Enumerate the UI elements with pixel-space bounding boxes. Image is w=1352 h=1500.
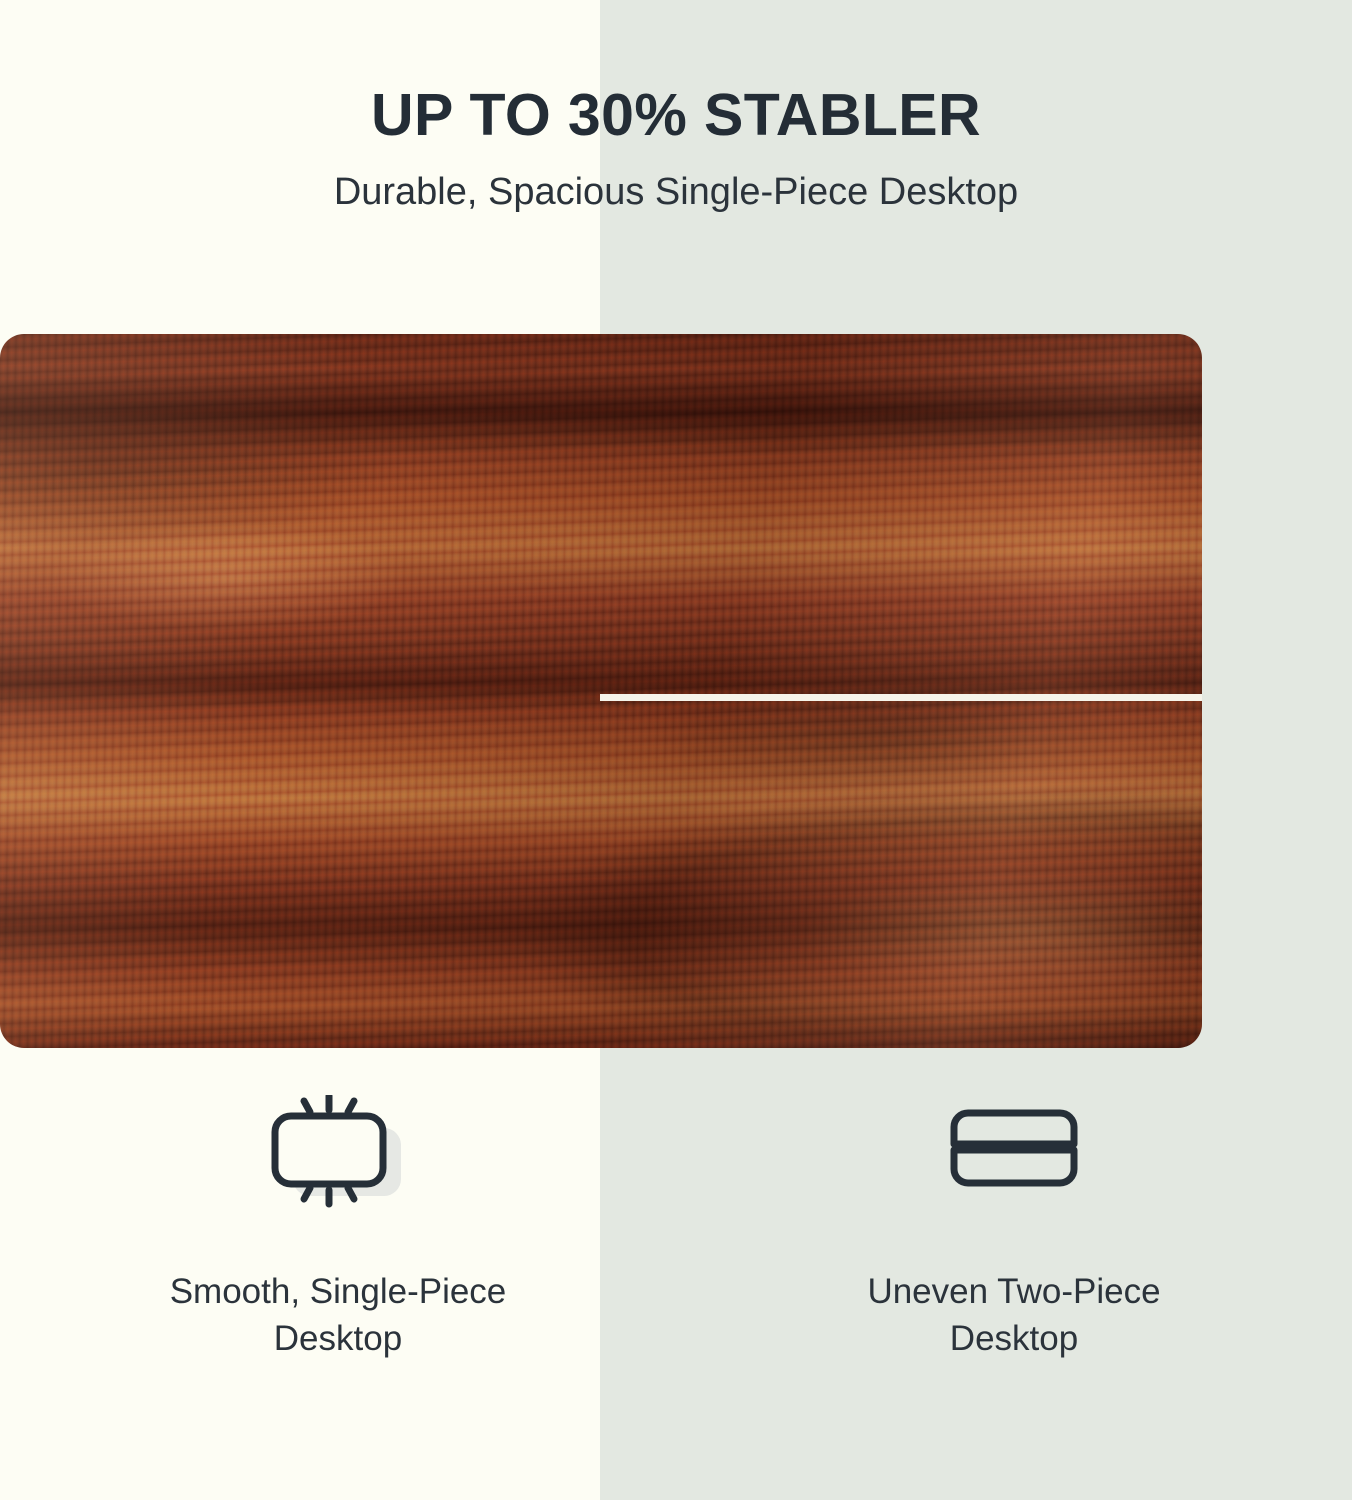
two-piece-desktop-split-icon xyxy=(934,1095,1094,1245)
caption-single-piece-line2: Desktop xyxy=(274,1319,402,1358)
page-title: UP TO 30% STABLER xyxy=(0,0,1352,145)
comparison-column-two-piece: Uneven Two-PieceDesktop xyxy=(676,1090,1352,1420)
single-piece-desktop-shine-icon xyxy=(258,1095,418,1245)
desktop-product-photo xyxy=(0,334,1202,1048)
page-subtitle: Durable, Spacious Single-Piece Desktop xyxy=(0,145,1352,214)
wood-surface-sheen xyxy=(0,334,1202,1048)
caption-single-piece: Smooth, Single-PieceDesktop xyxy=(170,1250,507,1363)
icon-slot-single-piece xyxy=(258,1090,418,1250)
comparison-column-single-piece: Smooth, Single-PieceDesktop xyxy=(0,1090,676,1420)
comparison-row: Smooth, Single-PieceDesktop Uneven Two-P… xyxy=(0,1090,1352,1420)
caption-two-piece: Uneven Two-PieceDesktop xyxy=(867,1250,1160,1363)
caption-single-piece-line1: Smooth, Single-Piece xyxy=(170,1272,507,1311)
product-infographic: UP TO 30% STABLER Durable, Spacious Sing… xyxy=(0,0,1352,1500)
caption-two-piece-line1: Uneven Two-Piece xyxy=(867,1272,1160,1311)
two-piece-seam-line xyxy=(600,694,1202,701)
caption-two-piece-line2: Desktop xyxy=(950,1319,1078,1358)
heading-block: UP TO 30% STABLER Durable, Spacious Sing… xyxy=(0,0,1352,214)
icon-slot-two-piece xyxy=(934,1090,1094,1250)
